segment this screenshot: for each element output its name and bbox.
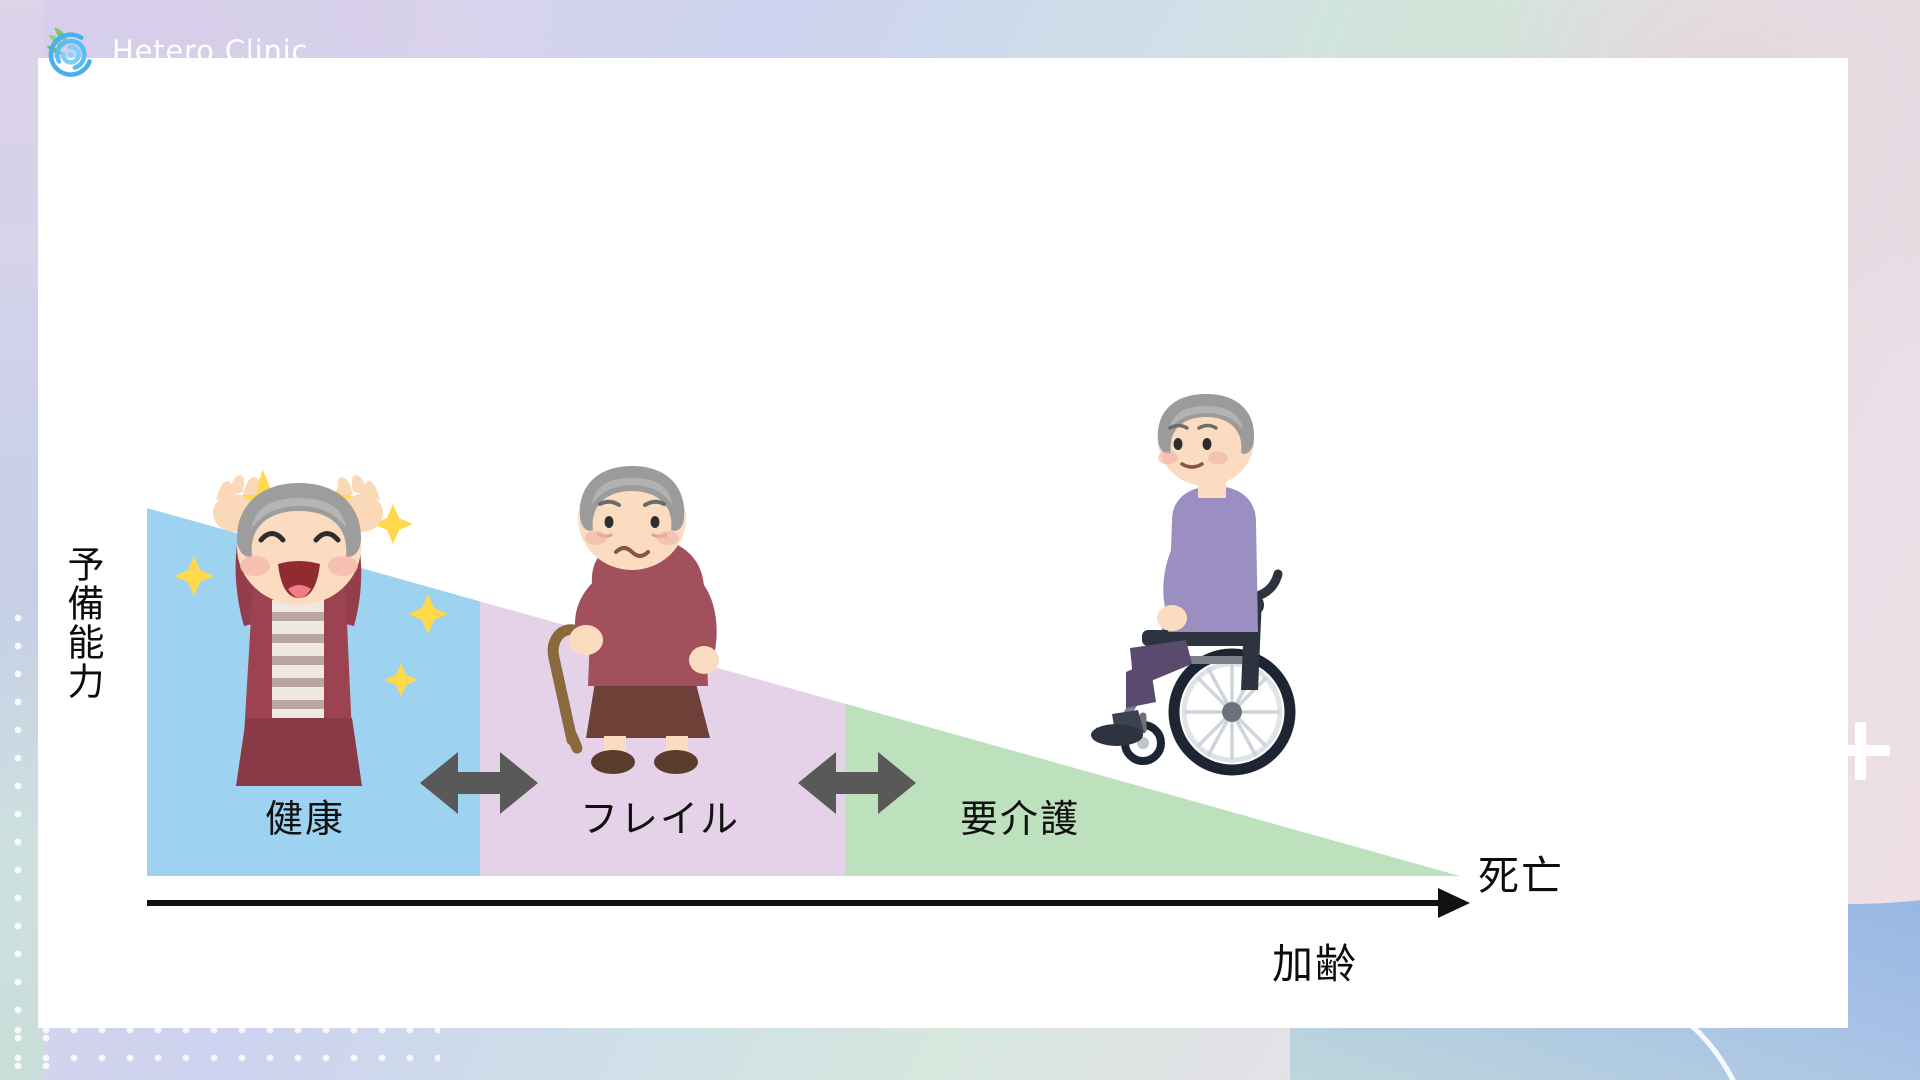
stage-label-healthy: 健康	[265, 788, 345, 843]
frailty-progression-diagram: 予備能力 健康 フレイル 要介護 死亡 加齢	[0, 0, 1920, 1080]
brand-name: Hetero Clinic	[112, 34, 308, 68]
death-label: 死亡	[1478, 842, 1564, 902]
slide-canvas: Hetero Clinic フレイル 加齢により心身が老い衰えた状態	[0, 0, 1920, 1080]
x-axis-arrow-icon	[1438, 888, 1470, 918]
diagram-svg	[0, 0, 1920, 1080]
y-axis-label: 予備能力	[48, 545, 104, 701]
stage-label-frail: フレイル	[580, 788, 740, 843]
spiral-leaf-logo-icon	[40, 22, 98, 80]
brand-logo[interactable]: Hetero Clinic	[40, 22, 308, 80]
stage-label-care: 要介護	[960, 788, 1080, 843]
x-axis-label-text: 加齢	[1272, 930, 1358, 990]
